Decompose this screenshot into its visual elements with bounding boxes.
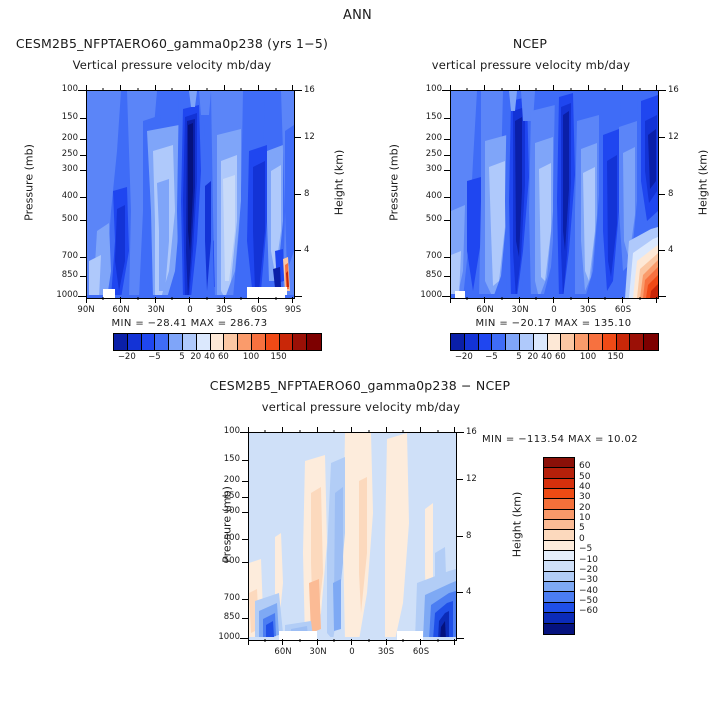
xtick: 60N xyxy=(271,647,295,657)
colorbar-tick-label: 100 xyxy=(239,352,263,362)
colorbar-cell xyxy=(183,334,197,350)
xtick: 60S xyxy=(409,647,433,657)
panel-model-plot xyxy=(86,90,295,299)
panel-obs-top-ticks xyxy=(450,84,659,91)
y2tick: 16 xyxy=(466,427,477,437)
colorbar-cell xyxy=(465,334,479,350)
ytick: 300 xyxy=(426,164,442,174)
colorbar-cell xyxy=(238,334,252,350)
panel-diff-xaxis: 60N 30N 0 30S 60S xyxy=(248,647,455,661)
colorbar-tick-label: −20 xyxy=(452,352,476,362)
colorbar-tick-label: −20 xyxy=(115,352,139,362)
colorbar-diff[interactable] xyxy=(543,457,575,635)
panel-obs-subtitle: vertical pressure velocity mb/day xyxy=(398,58,664,72)
colorbar-cell xyxy=(544,624,574,634)
ytick: 850 xyxy=(224,612,240,622)
panel-model-title: CESM2B5_NFPTAERO60_gamma0p238 (yrs 1−5) xyxy=(8,36,336,51)
colorbar-tick-label: −60 xyxy=(579,606,598,616)
colorbar-cell xyxy=(544,468,574,478)
panel-obs-ytick-marks xyxy=(442,90,450,298)
ytick: 250 xyxy=(62,149,78,159)
colorbar-cell xyxy=(492,334,506,350)
ytick: 700 xyxy=(62,251,78,261)
y2tick: 4 xyxy=(304,245,309,255)
colorbar-cell xyxy=(544,541,574,551)
xtick: 30S xyxy=(212,305,236,315)
ytick: 100 xyxy=(426,84,442,94)
panel-obs-y2axis: 16 12 8 4 xyxy=(668,90,708,297)
ytick: 500 xyxy=(62,214,78,224)
xtick: 30N xyxy=(306,647,330,657)
y2tick: 8 xyxy=(304,189,309,199)
colorbar-cell xyxy=(544,458,574,468)
ytick: 100 xyxy=(224,426,240,436)
colorbar-cell xyxy=(534,334,548,350)
colorbar-cell xyxy=(266,334,280,350)
panel-diff-top-ticks xyxy=(248,426,457,433)
ytick: 100 xyxy=(62,84,78,94)
xtick: 30N xyxy=(508,305,532,315)
colorbar-cell xyxy=(197,334,211,350)
xtick: 90S xyxy=(281,305,305,315)
panel-obs-plot xyxy=(450,90,659,299)
colorbar-diff-labels: 60504030201050−5−10−20−30−40−50−60 xyxy=(579,457,619,633)
panel-model-ytick-marks xyxy=(78,90,86,298)
colorbar-cell xyxy=(280,334,294,350)
colorbar-tick-label: 30 xyxy=(579,492,590,502)
colorbar-cell xyxy=(561,334,575,350)
panel-diff-ytick-marks xyxy=(240,432,248,640)
colorbar-tick-label: 40 xyxy=(579,482,590,492)
panel-model-top-ticks xyxy=(86,84,295,91)
colorbar-cell xyxy=(211,334,225,350)
y2tick: 4 xyxy=(466,587,471,597)
xtick: 90N xyxy=(74,305,98,315)
colorbar-cell xyxy=(544,582,574,592)
colorbar-cell xyxy=(307,334,321,350)
colorbar-cell xyxy=(617,334,631,350)
colorbar-cell xyxy=(630,334,644,350)
ytick: 250 xyxy=(426,149,442,159)
colorbar-tick-label: −50 xyxy=(579,596,598,606)
colorbar-cell xyxy=(520,334,534,350)
xtick: 60S xyxy=(247,305,271,315)
ytick: 250 xyxy=(224,491,240,501)
ytick: 700 xyxy=(426,251,442,261)
colorbar-cell xyxy=(544,613,574,623)
colorbar-obs[interactable] xyxy=(450,333,659,351)
xtick: 30N xyxy=(144,305,168,315)
colorbar-tick-label: 150 xyxy=(267,352,291,362)
colorbar-cell xyxy=(451,334,465,350)
season-header: ANN xyxy=(0,8,715,23)
colorbar-cell xyxy=(252,334,266,350)
colorbar-cell xyxy=(114,334,128,350)
ytick: 1000 xyxy=(218,632,240,642)
ytick: 500 xyxy=(426,214,442,224)
colorbar-tick-label: 100 xyxy=(576,352,600,362)
panel-model-y2axis: 16 12 8 4 xyxy=(304,90,344,297)
ytick: 850 xyxy=(62,270,78,280)
colorbar-cell xyxy=(548,334,562,350)
panel-model-xaxis: 90N 60N 30N 0 30S 60S 90S xyxy=(86,305,293,319)
panel-model-minmax: MIN = −28.41 MAX = 286.73 xyxy=(86,318,293,329)
y2tick: 16 xyxy=(668,85,679,95)
colorbar-tick-label: −30 xyxy=(579,575,598,585)
colorbar-model-labels: −20−55204060100150 xyxy=(113,352,320,366)
colorbar-cell xyxy=(589,334,603,350)
panel-diff-y2label: Height (km) xyxy=(511,470,524,580)
panel-obs-yaxis: 100 150 200 250 300 400 500 700 850 1000 xyxy=(364,90,450,297)
ytick: 400 xyxy=(62,191,78,201)
xtick: 60S xyxy=(611,305,635,315)
colorbar-cell xyxy=(544,592,574,602)
xtick: 30S xyxy=(374,647,398,657)
colorbar-tick-label: 60 xyxy=(548,352,572,362)
colorbar-tick-label: 10 xyxy=(579,513,590,523)
y2tick: 4 xyxy=(668,245,673,255)
xtick: 60N xyxy=(109,305,133,315)
panel-diff-title: CESM2B5_NFPTAERO60_gamma0p238 − NCEP xyxy=(180,378,540,393)
panel-diff-y2tick-marks xyxy=(457,432,465,640)
xtick: 0 xyxy=(542,305,566,315)
ytick: 300 xyxy=(224,506,240,516)
colorbar-tick-label: −20 xyxy=(579,565,598,575)
colorbar-cell xyxy=(544,489,574,499)
xtick: 30S xyxy=(576,305,600,315)
ytick: 150 xyxy=(426,112,442,122)
panel-obs-title: NCEP xyxy=(400,36,660,51)
panel-diff-minmax: MIN = −113.54 MAX = 10.02 xyxy=(482,434,638,445)
colorbar-obs-labels: −20−55204060100150 xyxy=(450,352,657,366)
colorbar-tick-label: 0 xyxy=(579,534,585,544)
panel-obs-xaxis: 60N 30N 0 30S 60S xyxy=(450,305,657,319)
colorbar-tick-label: −5 xyxy=(479,352,503,362)
colorbar-cell xyxy=(544,561,574,571)
colorbar-tick-label: 60 xyxy=(579,461,590,471)
panel-obs-minmax: MIN = −20.17 MAX = 135.10 xyxy=(450,318,657,329)
panel-diff-subtitle: vertical pressure velocity mb/day xyxy=(186,400,536,414)
colorbar-cell xyxy=(544,603,574,613)
colorbar-model[interactable] xyxy=(113,333,322,351)
colorbar-cell xyxy=(128,334,142,350)
colorbar-cell xyxy=(479,334,493,350)
colorbar-tick-label: 20 xyxy=(579,503,590,513)
y2tick: 12 xyxy=(668,132,679,142)
colorbar-tick-label: −5 xyxy=(142,352,166,362)
ytick: 200 xyxy=(62,133,78,143)
colorbar-cell xyxy=(544,520,574,530)
xtick: 0 xyxy=(178,305,202,315)
y2tick: 12 xyxy=(304,132,315,142)
colorbar-cell xyxy=(293,334,307,350)
colorbar-cell xyxy=(544,479,574,489)
ytick: 150 xyxy=(224,454,240,464)
panel-model-bottom-ticks xyxy=(86,297,295,304)
colorbar-cell xyxy=(506,334,520,350)
ytick: 850 xyxy=(426,270,442,280)
y2tick: 16 xyxy=(304,85,315,95)
ytick: 150 xyxy=(62,112,78,122)
panel-model-yaxis: 100 150 200 250 300 400 500 700 850 1000 xyxy=(0,90,86,297)
xtick: 0 xyxy=(340,647,364,657)
y2tick: 8 xyxy=(466,531,471,541)
ytick: 700 xyxy=(224,593,240,603)
colorbar-cell xyxy=(224,334,238,350)
xtick: 60N xyxy=(473,305,497,315)
colorbar-tick-label: −5 xyxy=(579,544,592,554)
panel-diff-yaxis: 100 150 200 250 300 400 500 700 850 1000 xyxy=(162,432,248,639)
panel-diff-y2axis: 16 12 8 4 xyxy=(466,432,506,639)
colorbar-cell xyxy=(644,334,658,350)
y2tick: 12 xyxy=(466,474,477,484)
colorbar-tick-label: 50 xyxy=(579,472,590,482)
colorbar-tick-label: 60 xyxy=(211,352,235,362)
colorbar-cell xyxy=(544,551,574,561)
colorbar-cell xyxy=(603,334,617,350)
colorbar-tick-label: −40 xyxy=(579,586,598,596)
panel-obs-y2tick-marks xyxy=(659,90,667,298)
ytick: 400 xyxy=(426,191,442,201)
ytick: 1000 xyxy=(420,290,442,300)
panel-obs-bottom-ticks xyxy=(450,297,659,304)
colorbar-cell xyxy=(544,572,574,582)
colorbar-cell xyxy=(169,334,183,350)
ytick: 200 xyxy=(426,133,442,143)
colorbar-cell xyxy=(544,530,574,540)
colorbar-cell xyxy=(155,334,169,350)
ytick: 500 xyxy=(224,556,240,566)
colorbar-tick-label: 150 xyxy=(604,352,628,362)
panel-model-y2tick-marks xyxy=(295,90,303,298)
panel-diff-bottom-ticks xyxy=(248,639,457,646)
y2tick: 8 xyxy=(668,189,673,199)
ytick: 200 xyxy=(224,475,240,485)
colorbar-tick-label: 5 xyxy=(579,523,585,533)
colorbar-cell xyxy=(575,334,589,350)
ytick: 1000 xyxy=(56,290,78,300)
panel-diff-plot xyxy=(248,432,457,641)
ytick: 400 xyxy=(224,533,240,543)
ytick: 300 xyxy=(62,164,78,174)
colorbar-cell xyxy=(544,499,574,509)
colorbar-cell xyxy=(142,334,156,350)
panel-model-subtitle: Vertical pressure velocity mb/day xyxy=(8,58,336,72)
colorbar-cell xyxy=(544,510,574,520)
colorbar-tick-label: −10 xyxy=(579,555,598,565)
